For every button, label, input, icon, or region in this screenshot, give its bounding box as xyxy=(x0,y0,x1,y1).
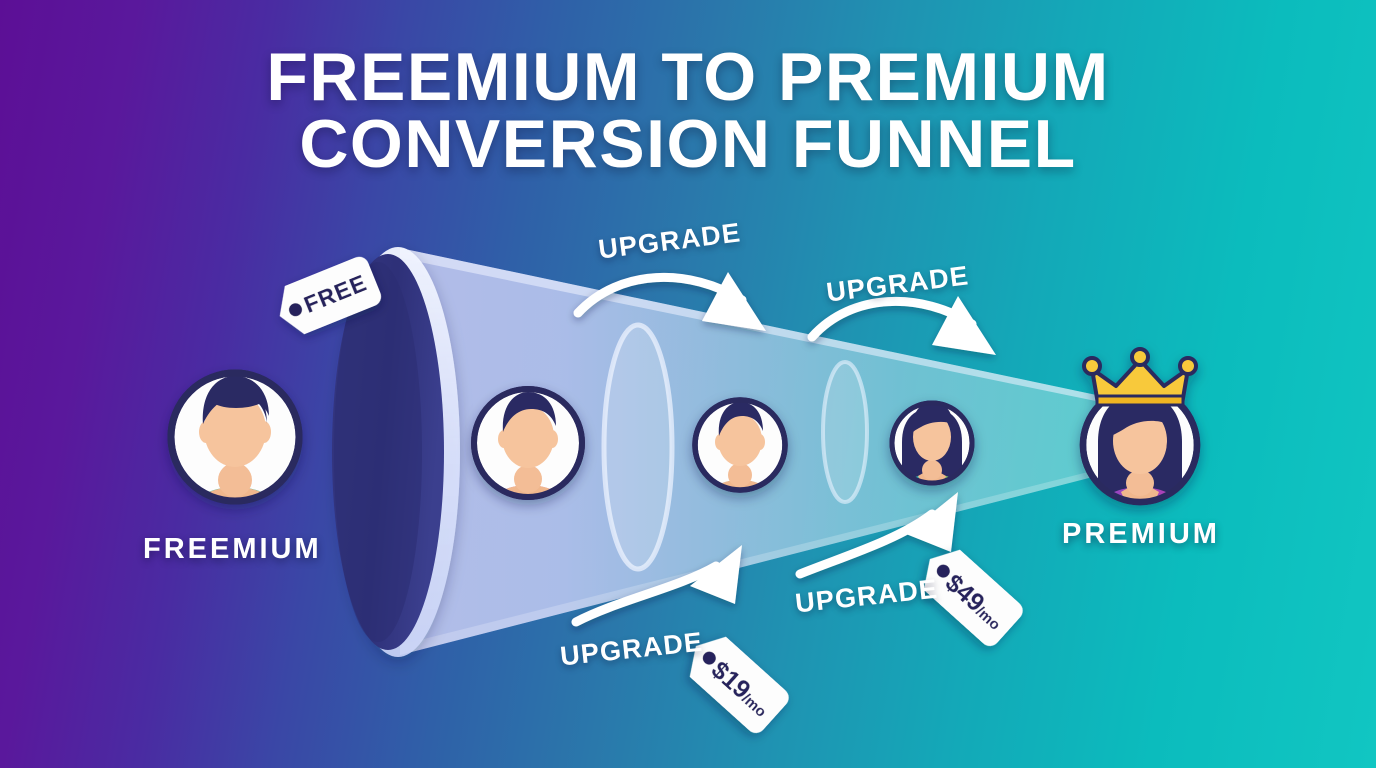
tag-free: FREE xyxy=(270,254,384,340)
page-title: FREEMIUM TO PREMIUM CONVERSION FUNNEL xyxy=(0,44,1376,177)
stage-label-freemium: FREEMIUM xyxy=(143,533,322,566)
stage-label-premium: PREMIUM xyxy=(1062,518,1220,551)
infographic-canvas: FREE $19/mo $49/mo FREEMIUM TO PREMIUM C… xyxy=(0,0,1376,768)
